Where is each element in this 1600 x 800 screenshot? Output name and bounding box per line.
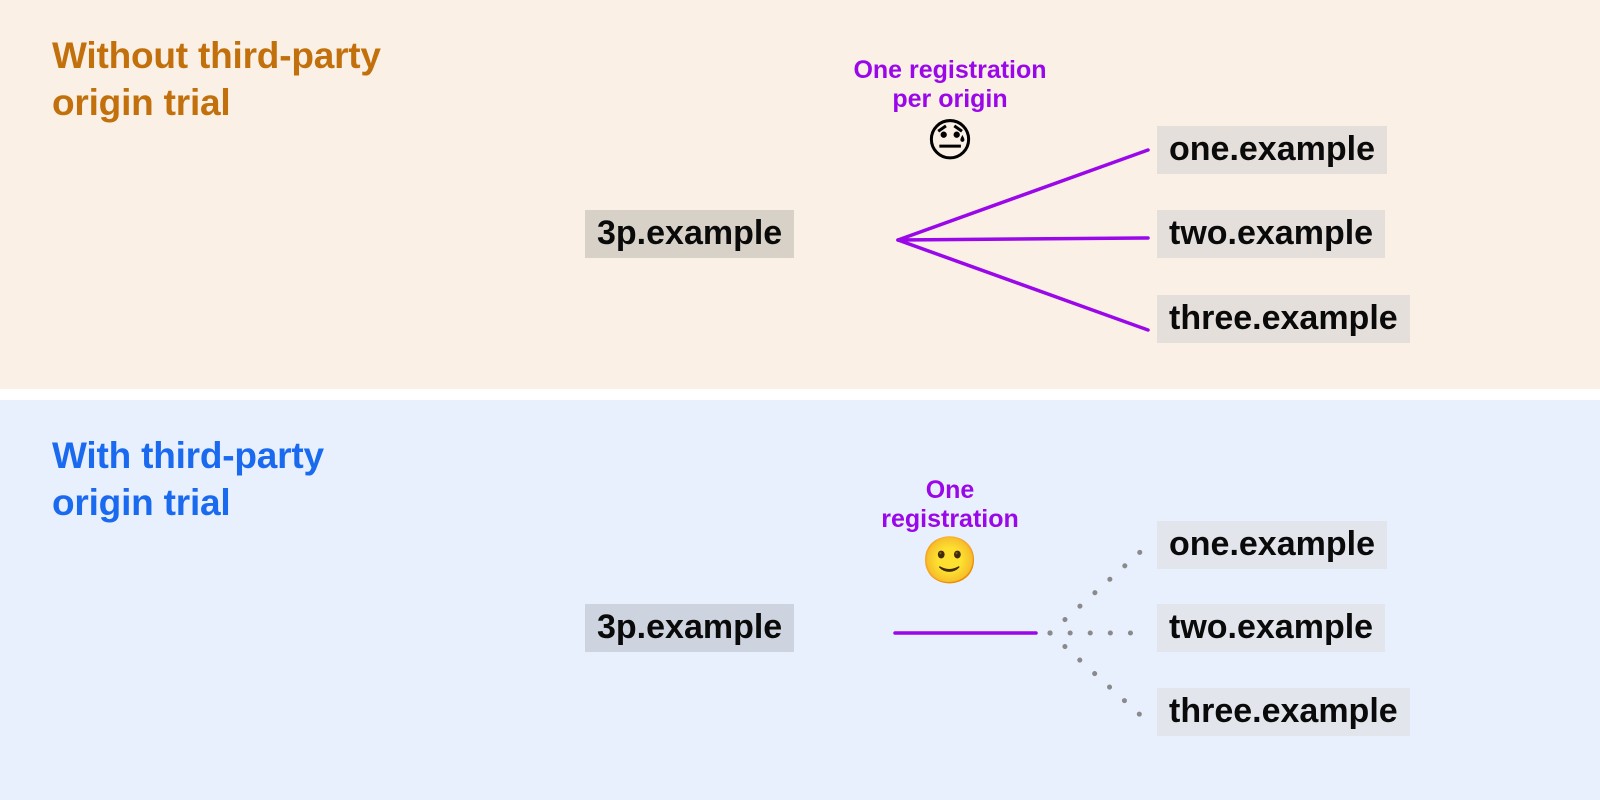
node-source-with: 3p.example — [585, 604, 794, 652]
annotation-label-with: One registration — [810, 476, 1090, 533]
node-source-without: 3p.example — [585, 210, 794, 258]
annotation-without: One registration per origin 😓 — [770, 56, 1130, 163]
node-target-two-without: two.example — [1157, 210, 1385, 258]
downcast-face-with-sweat-emoji: 😓 — [770, 117, 1130, 163]
node-target-one-with: one.example — [1157, 521, 1387, 569]
node-target-three-with: three.example — [1157, 688, 1410, 736]
node-target-three-without: three.example — [1157, 295, 1410, 343]
panel-heading-without: Without third-party origin trial — [52, 32, 381, 127]
slightly-smiling-face-emoji: 🙂 — [810, 537, 1090, 583]
panel-heading-with: With third-party origin trial — [52, 432, 324, 527]
node-target-two-with: two.example — [1157, 604, 1385, 652]
node-target-one-without: one.example — [1157, 126, 1387, 174]
annotation-label-without: One registration per origin — [770, 56, 1130, 113]
origin-trial-comparison-diagram: Without third-party origin trial One reg… — [0, 0, 1600, 800]
annotation-with: One registration 🙂 — [810, 476, 1090, 583]
